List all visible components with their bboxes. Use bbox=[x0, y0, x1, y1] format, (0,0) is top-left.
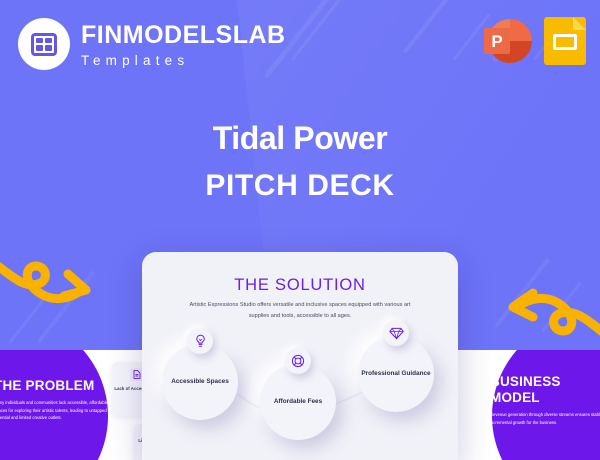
problem-title: THE PROBLEM bbox=[0, 378, 114, 394]
lightbulb-glyph bbox=[194, 334, 207, 348]
coin-circle-glyph bbox=[291, 354, 305, 368]
brand-name: FINMODELSLAB bbox=[81, 23, 286, 48]
feature-label-affordable-fees: Affordable Fees bbox=[274, 397, 322, 407]
diamond-glyph bbox=[389, 327, 404, 340]
business-title-line2: MODEL bbox=[490, 390, 600, 406]
coin-circle-icon bbox=[285, 348, 311, 374]
squiggly-arrow-right-icon bbox=[0, 240, 106, 312]
squiggly-arrow-left-icon bbox=[499, 283, 600, 355]
document-glyph bbox=[133, 370, 141, 379]
problem-text-block: THE PROBLEM Many individuals and communi… bbox=[0, 378, 114, 421]
powerpoint-icon[interactable]: P bbox=[484, 17, 532, 65]
brand-text: FINMODELSLAB Templates bbox=[81, 21, 286, 68]
format-icons: P bbox=[484, 17, 586, 65]
page-title: Tidal Power bbox=[0, 120, 600, 157]
feature-label-professional-guidance: Professional Guidance bbox=[361, 369, 430, 379]
logo-circle bbox=[18, 18, 70, 70]
powerpoint-letter: P bbox=[484, 28, 510, 54]
feature-bubble-affordable-fees[interactable]: Affordable Fees bbox=[260, 364, 336, 440]
solution-description: Artistic Expressions Studio offers versa… bbox=[182, 300, 418, 322]
grid-squares-icon bbox=[31, 33, 57, 56]
header: FINMODELSLAB Templates P bbox=[0, 0, 600, 90]
lightbulb-icon bbox=[187, 328, 213, 354]
feature-label-accessible-spaces: Accessible Spaces bbox=[171, 377, 229, 387]
feature-bubble-professional-guidance[interactable]: Professional Guidance bbox=[358, 336, 434, 412]
slide-the-solution[interactable]: THE SOLUTION Artistic Expressions Studio… bbox=[142, 252, 458, 460]
brand-logo[interactable]: FINMODELSLAB Templates bbox=[18, 18, 286, 70]
business-text-block: BUSINESS MODEL Revenue generation throug… bbox=[490, 374, 600, 426]
business-title-line1: BUSINESS bbox=[490, 374, 600, 390]
google-slides-icon[interactable] bbox=[544, 17, 586, 65]
page-subtitle: PITCH DECK bbox=[0, 169, 600, 203]
diamond-icon bbox=[383, 320, 409, 346]
slides-screen-shape bbox=[553, 34, 577, 50]
feature-bubble-accessible-spaces[interactable]: Accessible Spaces bbox=[162, 344, 238, 420]
problem-description: Many individuals and communities lack ac… bbox=[0, 399, 114, 421]
hero-titles: Tidal Power PITCH DECK bbox=[0, 120, 600, 203]
solution-title: THE SOLUTION bbox=[142, 276, 458, 295]
brand-subtitle: Templates bbox=[81, 54, 286, 68]
business-description: Revenue generation through diverse strea… bbox=[490, 411, 600, 426]
